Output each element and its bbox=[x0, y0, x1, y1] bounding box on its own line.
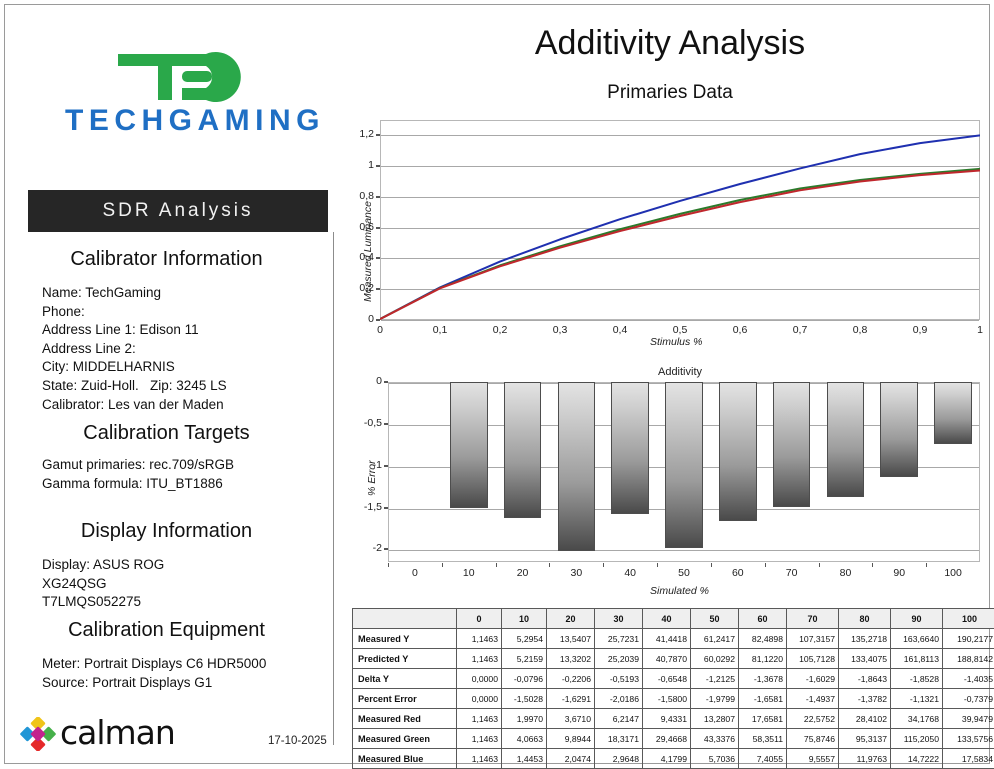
table-column-header: 10 bbox=[502, 609, 547, 629]
x-tick-label: 0 bbox=[360, 324, 400, 336]
x-tick-label: 60 bbox=[716, 567, 760, 579]
x-tick-label: 50 bbox=[662, 567, 706, 579]
bar bbox=[504, 382, 542, 518]
table-cell: 7,4055 bbox=[739, 749, 787, 769]
bar bbox=[719, 382, 757, 521]
x-tick-mark bbox=[549, 563, 550, 567]
series-line-blue bbox=[380, 135, 980, 319]
table-cell: -0,5193 bbox=[595, 669, 643, 689]
x-tick-label: 0,5 bbox=[660, 324, 700, 336]
table-cell: 188,8142 bbox=[943, 649, 994, 669]
info-line: Name: TechGaming bbox=[42, 284, 227, 303]
table-cell: 1,1463 bbox=[457, 729, 502, 749]
bar bbox=[934, 382, 972, 444]
table-cell: 11,9763 bbox=[839, 749, 891, 769]
table-cell: 107,3157 bbox=[787, 629, 839, 649]
calibration-targets-lines: Gamut primaries: rec.709/sRGB Gamma form… bbox=[42, 456, 234, 493]
table-cell: -1,6581 bbox=[739, 689, 787, 709]
table-cell: -0,7379 bbox=[943, 689, 994, 709]
x-tick-label: 40 bbox=[608, 567, 652, 579]
additivity-chart-title: Additivity bbox=[380, 366, 980, 378]
primaries-data-table: 0102030405060708090100 Measured Y1,14635… bbox=[352, 608, 994, 769]
table-cell: -1,5800 bbox=[643, 689, 691, 709]
table-cell: 18,3171 bbox=[595, 729, 643, 749]
section-heading-calibrator-information: Calibrator Information bbox=[0, 248, 333, 271]
table-cell: 95,3137 bbox=[839, 729, 891, 749]
table-cell: 9,8944 bbox=[547, 729, 595, 749]
table-cell: -1,4937 bbox=[787, 689, 839, 709]
table-cell: -1,3782 bbox=[839, 689, 891, 709]
table-cell: -1,4035 bbox=[943, 669, 994, 689]
info-line: Meter: Portrait Displays C6 HDR5000 bbox=[42, 655, 266, 674]
table-cell: -1,2125 bbox=[691, 669, 739, 689]
y-tick-mark bbox=[384, 381, 388, 383]
additivity-y-axis-label: % Error bbox=[366, 460, 378, 496]
table-cell: 133,5756 bbox=[943, 729, 994, 749]
info-line: Phone: bbox=[42, 303, 227, 322]
table-row: Measured Green1,14634,06639,894418,31712… bbox=[353, 729, 994, 749]
table-cell: 190,2177 bbox=[943, 629, 994, 649]
y-tick-label: -1,5 bbox=[350, 501, 382, 513]
y-tick-mark bbox=[376, 134, 380, 136]
table-cell: 29,4668 bbox=[643, 729, 691, 749]
x-tick-label: 100 bbox=[931, 567, 975, 579]
x-tick-label: 30 bbox=[554, 567, 598, 579]
section-heading-calibration-targets: Calibration Targets bbox=[0, 422, 333, 445]
primaries-x-axis-label: Stimulus % bbox=[650, 336, 703, 348]
table-cell: 133,4075 bbox=[839, 649, 891, 669]
info-line: Calibrator: Les van der Maden bbox=[42, 396, 227, 415]
table-cell: -1,8528 bbox=[891, 669, 943, 689]
table-cell: 43,3376 bbox=[691, 729, 739, 749]
y-tick-mark bbox=[376, 227, 380, 229]
table-cell: 1,1463 bbox=[457, 649, 502, 669]
report-page: TECHGAMING SDR Analysis Calibrator Infor… bbox=[0, 0, 994, 768]
table-cell: 41,4418 bbox=[643, 629, 691, 649]
table-column-header: 70 bbox=[787, 609, 839, 629]
page-title: Additivity Analysis bbox=[350, 24, 990, 63]
table-cell: 13,5407 bbox=[547, 629, 595, 649]
display-information-lines: Display: ASUS ROG XG24QSG T7LMQS052275 bbox=[42, 556, 164, 612]
table-cell: 28,4102 bbox=[839, 709, 891, 729]
table-cell: 5,7036 bbox=[691, 749, 739, 769]
table-row: Predicted Y1,14635,215913,320225,203940,… bbox=[353, 649, 994, 669]
table-cell: -1,1321 bbox=[891, 689, 943, 709]
y-tick-mark bbox=[384, 507, 388, 509]
table-cell: 75,8746 bbox=[787, 729, 839, 749]
table-column-header: 0 bbox=[457, 609, 502, 629]
table-cell: 60,0292 bbox=[691, 649, 739, 669]
info-line: XG24QSG bbox=[42, 575, 164, 594]
table-cell: 115,2050 bbox=[891, 729, 943, 749]
calibrator-information-lines: Name: TechGaming Phone: Address Line 1: … bbox=[42, 284, 227, 414]
table-cell: 82,4898 bbox=[739, 629, 787, 649]
x-tick-label: 0,6 bbox=[720, 324, 760, 336]
x-tick-label: 80 bbox=[823, 567, 867, 579]
table-cell: -1,9799 bbox=[691, 689, 739, 709]
x-tick-label: 0,1 bbox=[420, 324, 460, 336]
table-cell: 14,7222 bbox=[891, 749, 943, 769]
table-row: Measured Blue1,14631,44532,04742,96484,1… bbox=[353, 749, 994, 769]
table-cell: 17,5834 bbox=[943, 749, 994, 769]
table-column-header: 60 bbox=[739, 609, 787, 629]
x-tick-label: 20 bbox=[501, 567, 545, 579]
table-cell: 1,9970 bbox=[502, 709, 547, 729]
info-line: T7LMQS052275 bbox=[42, 593, 164, 612]
x-tick-mark bbox=[819, 563, 820, 567]
table-row: Measured Y1,14635,295413,540725,723141,4… bbox=[353, 629, 994, 649]
table-cell: -0,6548 bbox=[643, 669, 691, 689]
table-cell: 9,5557 bbox=[787, 749, 839, 769]
x-tick-label: 70 bbox=[770, 567, 814, 579]
x-tick-mark bbox=[442, 563, 443, 567]
grid-line bbox=[381, 320, 979, 321]
table-cell: 17,6581 bbox=[739, 709, 787, 729]
table-cell: -1,6029 bbox=[787, 669, 839, 689]
table-cell: -0,2206 bbox=[547, 669, 595, 689]
info-line: City: MIDDELHARNIS bbox=[42, 358, 227, 377]
table-column-header: 50 bbox=[691, 609, 739, 629]
x-tick-label: 10 bbox=[447, 567, 491, 579]
table-cell: 1,4453 bbox=[502, 749, 547, 769]
info-line: Source: Portrait Displays G1 bbox=[42, 674, 266, 693]
additivity-bar-chart: Additivity 0-0,5-1-1,5-2 010203040506070… bbox=[350, 366, 990, 601]
table-column-header: 30 bbox=[595, 609, 643, 629]
info-line: Display: ASUS ROG bbox=[42, 556, 164, 575]
additivity-x-axis-label: Simulated % bbox=[650, 585, 709, 597]
section-heading-calibration-equipment: Calibration Equipment bbox=[0, 619, 333, 642]
y-tick-mark bbox=[376, 165, 380, 167]
calman-diamond-icon bbox=[18, 717, 58, 751]
table-row-header: Predicted Y bbox=[353, 649, 457, 669]
table-cell: 2,0474 bbox=[547, 749, 595, 769]
primaries-y-axis-label: Measured Luminance bbox=[362, 201, 374, 302]
info-line: Gamma formula: ITU_BT1886 bbox=[42, 475, 234, 494]
x-tick-mark bbox=[388, 563, 389, 567]
table-cell: 163,6640 bbox=[891, 629, 943, 649]
table-cell: 4,1799 bbox=[643, 749, 691, 769]
x-tick-mark bbox=[603, 563, 604, 567]
table-cell: 34,1768 bbox=[891, 709, 943, 729]
y-tick-label: -2 bbox=[350, 542, 382, 554]
info-line: State: Zuid-Holl. Zip: 3245 LS bbox=[42, 377, 227, 396]
y-tick-label: -0,5 bbox=[350, 417, 382, 429]
calman-logo: calman bbox=[18, 711, 193, 755]
table-column-header: 40 bbox=[643, 609, 691, 629]
table-cell: -0,0796 bbox=[502, 669, 547, 689]
x-tick-mark bbox=[765, 563, 766, 567]
page-subtitle: Primaries Data bbox=[350, 82, 990, 104]
table-column-header: 90 bbox=[891, 609, 943, 629]
table-cell: 61,2417 bbox=[691, 629, 739, 649]
table-cell: 22,5752 bbox=[787, 709, 839, 729]
table-cell: -1,6291 bbox=[547, 689, 595, 709]
table-cell: 40,7870 bbox=[643, 649, 691, 669]
table-row-header: Measured Blue bbox=[353, 749, 457, 769]
y-tick-mark bbox=[376, 319, 380, 321]
y-tick-label: 1,2 bbox=[350, 128, 374, 140]
table-cell: -2,0186 bbox=[595, 689, 643, 709]
bar bbox=[773, 382, 811, 507]
info-line: Gamut primaries: rec.709/sRGB bbox=[42, 456, 234, 475]
table-cell: 13,2807 bbox=[691, 709, 739, 729]
table-cell: 1,1463 bbox=[457, 629, 502, 649]
x-tick-mark bbox=[711, 563, 712, 567]
x-tick-label: 0,9 bbox=[900, 324, 940, 336]
table-row: Percent Error0,0000-1,5028-1,6291-2,0186… bbox=[353, 689, 994, 709]
table-header-row: 0102030405060708090100 bbox=[353, 609, 994, 629]
table-cell: -1,5028 bbox=[502, 689, 547, 709]
table-cell: 1,1463 bbox=[457, 749, 502, 769]
table-row-header: Percent Error bbox=[353, 689, 457, 709]
calman-wordmark: calman bbox=[60, 713, 175, 752]
bar bbox=[880, 382, 918, 477]
table-body: Measured Y1,14635,295413,540725,723141,4… bbox=[353, 629, 994, 769]
table-row-header: Measured Y bbox=[353, 629, 457, 649]
x-tick-mark bbox=[657, 563, 658, 567]
bar bbox=[611, 382, 649, 514]
table-cell: 25,2039 bbox=[595, 649, 643, 669]
table-row: Measured Red1,14631,99703,67106,21479,43… bbox=[353, 709, 994, 729]
bar bbox=[665, 382, 703, 548]
table-cell: 2,9648 bbox=[595, 749, 643, 769]
table-cell: 58,3511 bbox=[739, 729, 787, 749]
y-tick-mark bbox=[384, 548, 388, 550]
x-tick-label: 90 bbox=[877, 567, 921, 579]
table-cell: -1,8643 bbox=[839, 669, 891, 689]
techgaming-logo: TECHGAMING bbox=[60, 48, 340, 148]
bar bbox=[450, 382, 488, 508]
table-row-header: Delta Y bbox=[353, 669, 457, 689]
table-cell: -1,3678 bbox=[739, 669, 787, 689]
table-cell: 9,4331 bbox=[643, 709, 691, 729]
table-cell: 39,9479 bbox=[943, 709, 994, 729]
x-tick-label: 0,7 bbox=[780, 324, 820, 336]
grid-line bbox=[389, 550, 979, 551]
calibration-equipment-lines: Meter: Portrait Displays C6 HDR5000 Sour… bbox=[42, 655, 266, 692]
x-tick-mark bbox=[872, 563, 873, 567]
x-tick-label: 0,3 bbox=[540, 324, 580, 336]
y-tick-mark bbox=[384, 465, 388, 467]
table-cell: 105,7128 bbox=[787, 649, 839, 669]
info-line: Address Line 1: Edison 11 bbox=[42, 321, 227, 340]
table-cell: 4,0663 bbox=[502, 729, 547, 749]
series-line-red bbox=[380, 170, 980, 319]
bar bbox=[827, 382, 865, 497]
bar bbox=[558, 382, 596, 551]
panel-divider bbox=[333, 232, 334, 745]
table-corner-cell bbox=[353, 609, 457, 629]
section-heading-display-information: Display Information bbox=[0, 520, 333, 543]
table-row: Delta Y0,0000-0,0796-0,2206-0,5193-0,654… bbox=[353, 669, 994, 689]
table-cell: 25,7231 bbox=[595, 629, 643, 649]
table-column-header: 80 bbox=[839, 609, 891, 629]
sdr-analysis-banner: SDR Analysis bbox=[28, 190, 328, 232]
y-tick-mark bbox=[376, 257, 380, 259]
table-column-header: 100 bbox=[943, 609, 994, 629]
table-cell: 6,2147 bbox=[595, 709, 643, 729]
primaries-curves bbox=[380, 120, 980, 320]
table-cell: 0,0000 bbox=[457, 669, 502, 689]
series-line-green bbox=[380, 169, 980, 319]
y-tick-mark bbox=[376, 196, 380, 198]
y-tick-mark bbox=[384, 423, 388, 425]
primaries-line-chart: 00,20,40,60,811,2 00,10,20,30,40,50,60,7… bbox=[350, 112, 990, 347]
sdr-analysis-label: SDR Analysis bbox=[102, 200, 253, 222]
table-cell: 135,2718 bbox=[839, 629, 891, 649]
x-tick-label: 0,4 bbox=[600, 324, 640, 336]
x-tick-label: 1 bbox=[960, 324, 994, 336]
table-cell: 0,0000 bbox=[457, 689, 502, 709]
table-column-header: 20 bbox=[547, 609, 595, 629]
y-tick-label: 0 bbox=[350, 375, 382, 387]
x-tick-mark bbox=[926, 563, 927, 567]
table-cell: 5,2159 bbox=[502, 649, 547, 669]
table-cell: 161,8113 bbox=[891, 649, 943, 669]
x-tick-label: 0,8 bbox=[840, 324, 880, 336]
x-tick-label: 0,2 bbox=[480, 324, 520, 336]
table-row-header: Measured Green bbox=[353, 729, 457, 749]
table-row-header: Measured Red bbox=[353, 709, 457, 729]
table-cell: 81,1220 bbox=[739, 649, 787, 669]
info-line: Address Line 2: bbox=[42, 340, 227, 359]
table-cell: 13,3202 bbox=[547, 649, 595, 669]
techgaming-wordmark: TECHGAMING bbox=[60, 104, 330, 138]
y-tick-mark bbox=[376, 288, 380, 290]
techgaming-mark-icon bbox=[110, 48, 270, 104]
x-tick-mark bbox=[496, 563, 497, 567]
y-tick-label: 1 bbox=[350, 159, 374, 171]
table-cell: 5,2954 bbox=[502, 629, 547, 649]
table-cell: 1,1463 bbox=[457, 709, 502, 729]
table-cell: 3,6710 bbox=[547, 709, 595, 729]
report-date: 17-10-2025 bbox=[268, 735, 327, 747]
x-tick-label: 0 bbox=[393, 567, 437, 579]
